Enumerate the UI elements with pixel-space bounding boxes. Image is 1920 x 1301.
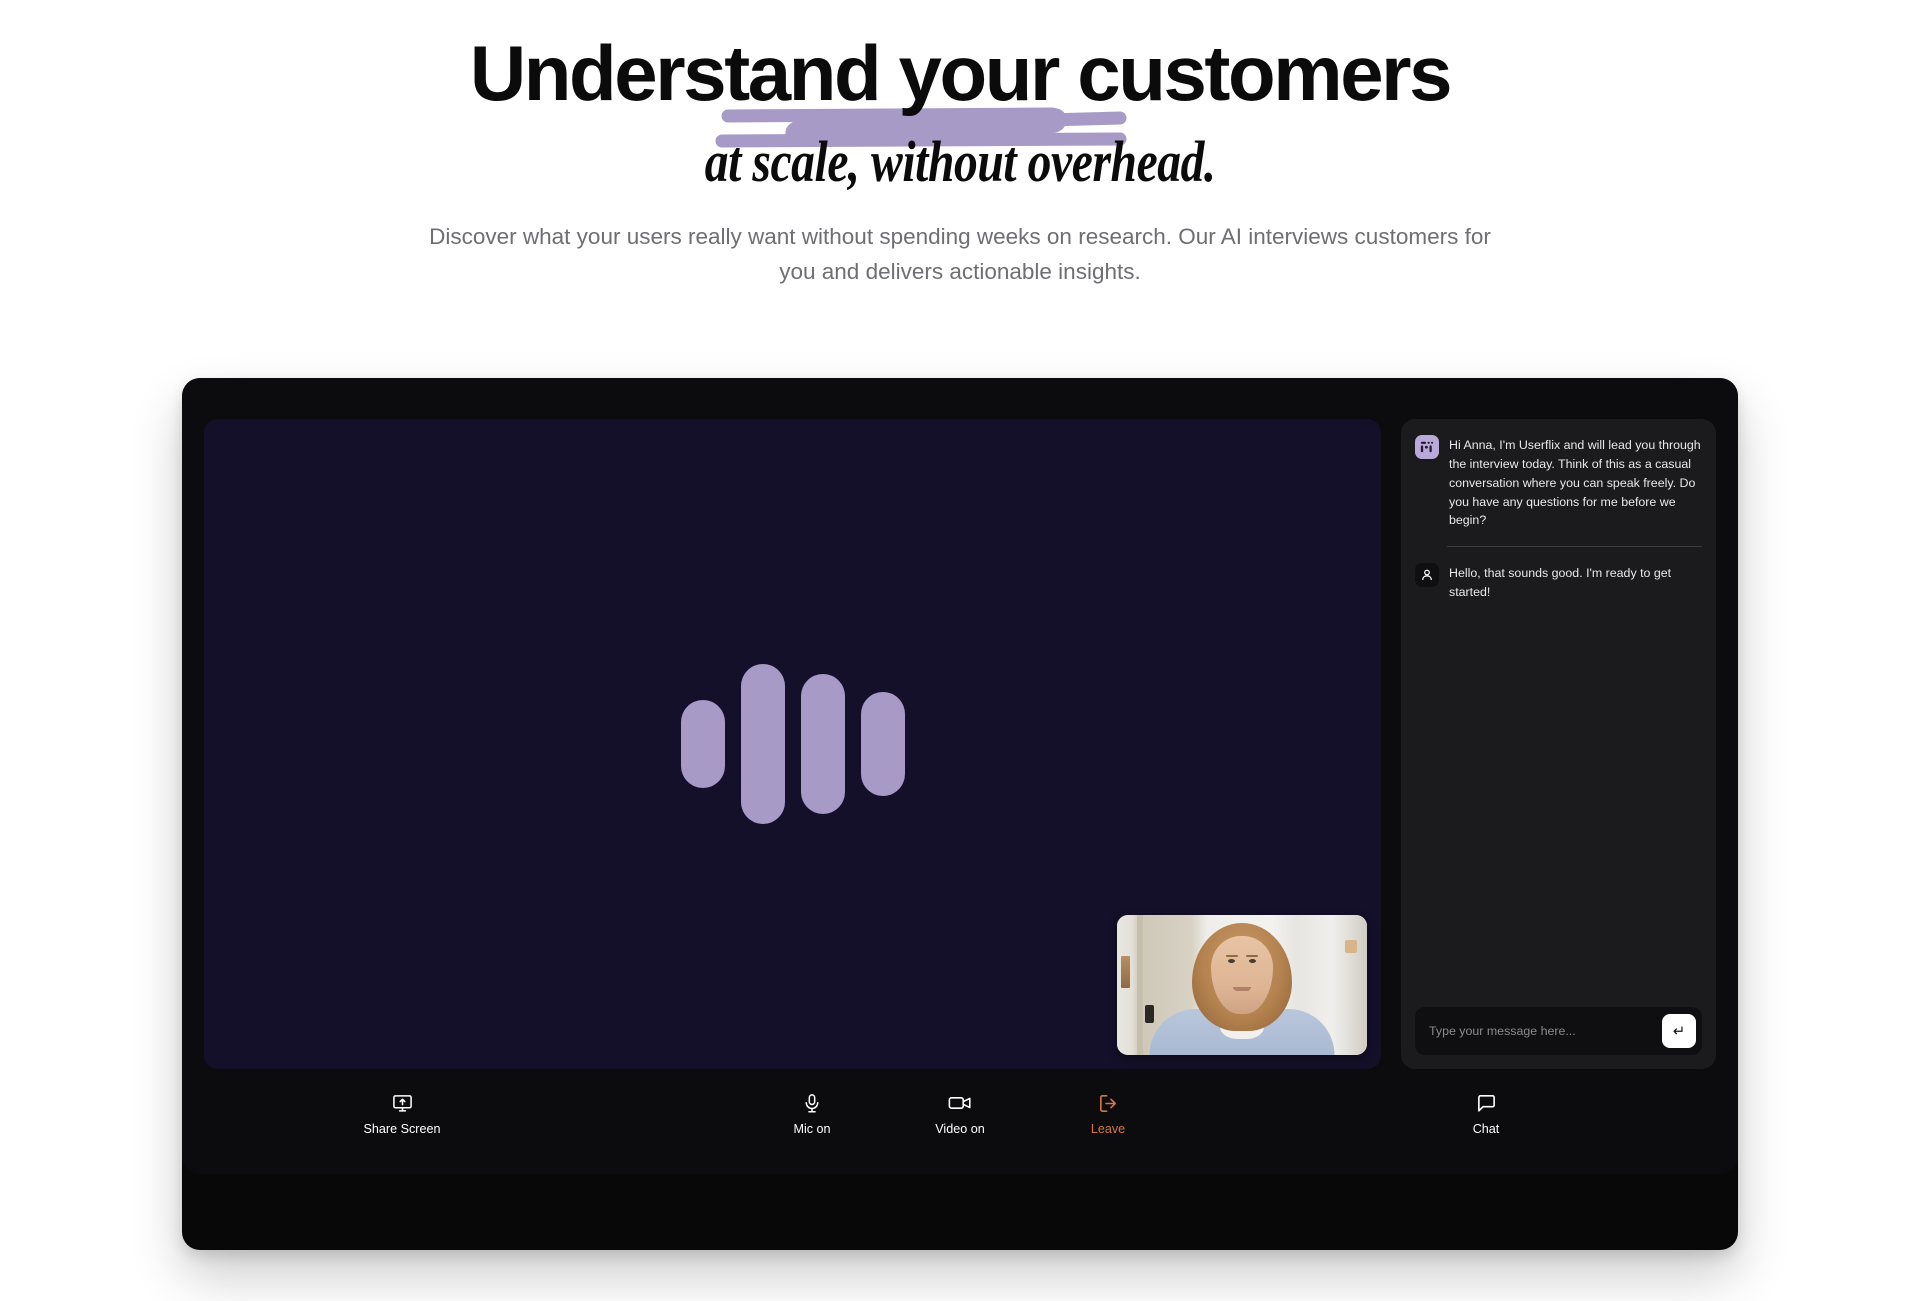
share-screen-button[interactable]: Share Screen <box>358 1092 446 1136</box>
toolbar-left-group: Share Screen <box>358 1092 446 1136</box>
video-label: Video on <box>935 1122 985 1136</box>
screen-share-icon <box>392 1092 413 1114</box>
hero-description: Discover what your users really want wit… <box>410 220 1510 288</box>
chat-message-user: Hello, that sounds good. I'm ready to ge… <box>1415 563 1702 602</box>
chat-message-ai: Hi Anna, I'm Userflix and will lead you … <box>1415 435 1702 530</box>
page-subtitle-script: at scale, without overhead. <box>558 132 1362 193</box>
interview-app-window: Hi Anna, I'm Userflix and will lead you … <box>182 378 1738 1250</box>
toolbar-right-group: Chat <box>1442 1092 1530 1136</box>
chat-bubble-icon <box>1476 1092 1497 1114</box>
share-screen-label: Share Screen <box>363 1122 440 1136</box>
mouth <box>1233 987 1251 991</box>
leave-label: Leave <box>1091 1122 1125 1136</box>
app-inner-panel: Hi Anna, I'm Userflix and will lead you … <box>182 378 1738 1174</box>
person-icon <box>1415 563 1439 587</box>
leave-call-button[interactable]: Leave <box>1064 1092 1152 1136</box>
chat-message-input[interactable] <box>1429 1024 1662 1038</box>
chat-label: Chat <box>1473 1122 1500 1136</box>
landing-page: Understand your customers at scale, with… <box>0 0 1920 1301</box>
chat-message-text: Hello, that sounds good. I'm ready to ge… <box>1449 563 1702 602</box>
door-frame <box>1137 915 1143 1055</box>
hero-section: Understand your customers at scale, with… <box>0 0 1920 289</box>
call-toolbar: Share Screen Mic on <box>182 1078 1738 1174</box>
chat-panel: Hi Anna, I'm Userflix and will lead you … <box>1401 419 1716 1069</box>
door-handle <box>1145 1005 1154 1023</box>
video-toggle-button[interactable]: Video on <box>916 1092 1004 1136</box>
video-stage <box>204 419 1381 1069</box>
waveform-bar <box>801 674 845 814</box>
chat-message-text: Hi Anna, I'm Userflix and will lead you … <box>1449 435 1702 530</box>
mic-label: Mic on <box>793 1122 830 1136</box>
chat-composer[interactable]: ↵ <box>1415 1007 1702 1055</box>
shelf-object <box>1345 940 1358 953</box>
chat-toggle-button[interactable]: Chat <box>1442 1092 1530 1136</box>
leave-icon <box>1098 1092 1119 1114</box>
eyebrow-left <box>1226 955 1238 957</box>
headline-wrap: Understand your customers at scale, with… <box>470 34 1450 192</box>
mic-toggle-button[interactable]: Mic on <box>768 1092 856 1136</box>
page-title: Understand your customers <box>470 34 1450 114</box>
userflix-logo-icon <box>1415 435 1439 459</box>
send-message-button[interactable]: ↵ <box>1662 1014 1696 1048</box>
toolbar-center-group: Mic on Video on <box>768 1092 1152 1136</box>
eyebrow-right <box>1246 955 1258 957</box>
chat-divider <box>1447 546 1702 547</box>
self-view-video[interactable] <box>1117 915 1367 1055</box>
waveform-bar <box>681 700 725 788</box>
video-camera-icon <box>948 1092 972 1114</box>
wall-art <box>1121 956 1130 988</box>
waveform-bar <box>741 664 785 824</box>
audio-waveform <box>681 634 905 854</box>
waveform-bar <box>861 692 905 796</box>
eye-right <box>1249 959 1256 963</box>
eye-left <box>1228 959 1235 963</box>
microphone-icon <box>802 1092 822 1114</box>
